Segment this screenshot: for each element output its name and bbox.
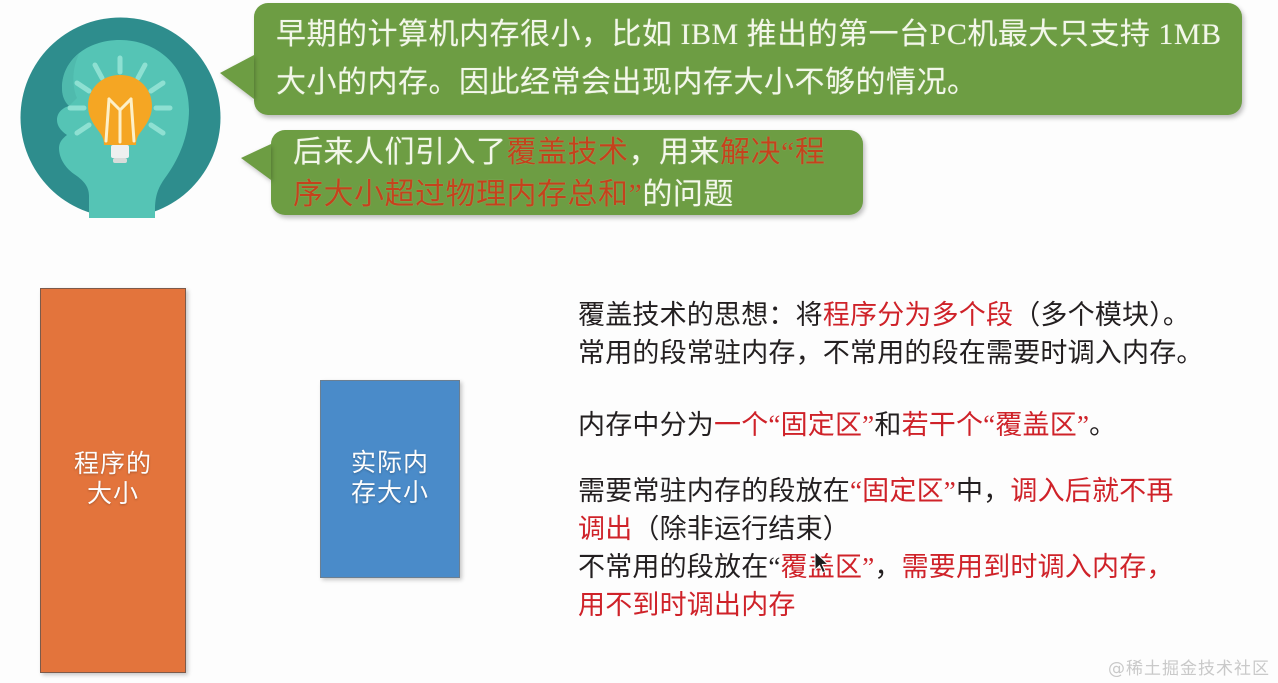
p2-run-1: 内存中分为 [578,410,714,440]
watermark: @稀土掘金技术社区 [1108,654,1270,679]
program-size-rectangle: 程序的 大小 [40,288,186,673]
speech-bubble-overlay-tech: 后来人们引入了覆盖技术，用来解决“程序大小超过物理内存总和”的问题 [271,130,863,215]
actual-memory-size-label-line1: 实际内 [351,449,429,479]
explanation-paragraph-3: 需要常驻内存的段放在“固定区”中，调入后就不再 调出（除非运行结束） 不常用的段… [578,472,1266,624]
p1-run-2: 程序分为多个段 [823,300,1013,330]
bubble-overlay-run-1: 后来人们引入了 [293,136,507,169]
program-size-label-line1: 程序的 [74,450,152,480]
explanation-text-block: 覆盖技术的思想：将程序分为多个段（多个模块）。 常用的段常驻内存，不常用的段在需… [578,296,1266,624]
p3-run-5: 调出 [578,514,632,544]
actual-memory-size-label-line2: 存大小 [351,479,429,509]
explanation-paragraph-1: 覆盖技术的思想：将程序分为多个段（多个模块）。 常用的段常驻内存，不常用的段在需… [578,296,1266,372]
bubble-intro-text: 早期的计算机内存很小，比如 IBM 推出的第一台PC机最大只支持 1MB 大小的… [276,11,1226,107]
bubble-overlay-text: 后来人们引入了覆盖技术，用来解决“程序大小超过物理内存总和”的问题 [293,132,847,216]
p3-run-10: 需要用到时调入内存， [902,552,1174,582]
p3-run-1: 需要常驻内存的段放在 [578,476,850,506]
p3-run-9: ， [874,552,901,582]
p3-run-3: 中， [956,476,1010,506]
p2-run-2: 一个“固定区” [714,410,874,440]
slide-canvas: 早期的计算机内存很小，比如 IBM 推出的第一台PC机最大只支持 1MB 大小的… [0,0,1278,683]
p1-run-4: 常用的段常驻内存，不常用的段在需要时调入内存。 [578,338,1204,368]
bubble-tail-icon [220,55,254,99]
p2-run-3: 和 [874,410,901,440]
bubble-overlay-run-2: 覆盖技术 [507,136,629,169]
p3-run-2: “固定区” [850,476,956,506]
bubble-intro-run-1: 早期的计算机内存很小，比如 IBM 推出的第一台PC机最大只支持 1MB 大小的… [276,18,1222,99]
p1-run-1: 覆盖技术的思想：将 [578,300,823,330]
mouse-cursor-icon [814,551,830,575]
p3-run-6: （除非运行结束） [632,514,850,544]
program-size-label-line2: 大小 [74,480,152,510]
bubble-tail-icon [241,144,271,180]
bubble-overlay-run-5: 的问题 [642,178,734,211]
p2-run-5: 。 [1089,410,1116,440]
p1-run-3: （多个模块）。 [1013,300,1190,330]
speech-bubble-intro: 早期的计算机内存很小，比如 IBM 推出的第一台PC机最大只支持 1MB 大小的… [254,3,1242,115]
bubble-overlay-run-3: ，用来 [629,136,721,169]
p3-run-7: 不常用的段放在“ [578,552,781,582]
explanation-paragraph-2: 内存中分为一个“固定区”和若干个“覆盖区”。 [578,406,1266,444]
p3-run-11: 用不到时调出内存 [578,590,796,620]
program-size-label: 程序的 大小 [74,450,152,510]
paragraph-spacer [578,372,1266,406]
p2-run-4: 若干个“覆盖区” [902,410,1090,440]
actual-memory-size-label: 实际内 存大小 [351,449,429,509]
p3-run-4: 调入后就不再 [1010,476,1173,506]
brain-lightbulb-icon [17,14,224,221]
paragraph-spacer [578,444,1266,472]
actual-memory-size-rectangle: 实际内 存大小 [320,380,460,578]
